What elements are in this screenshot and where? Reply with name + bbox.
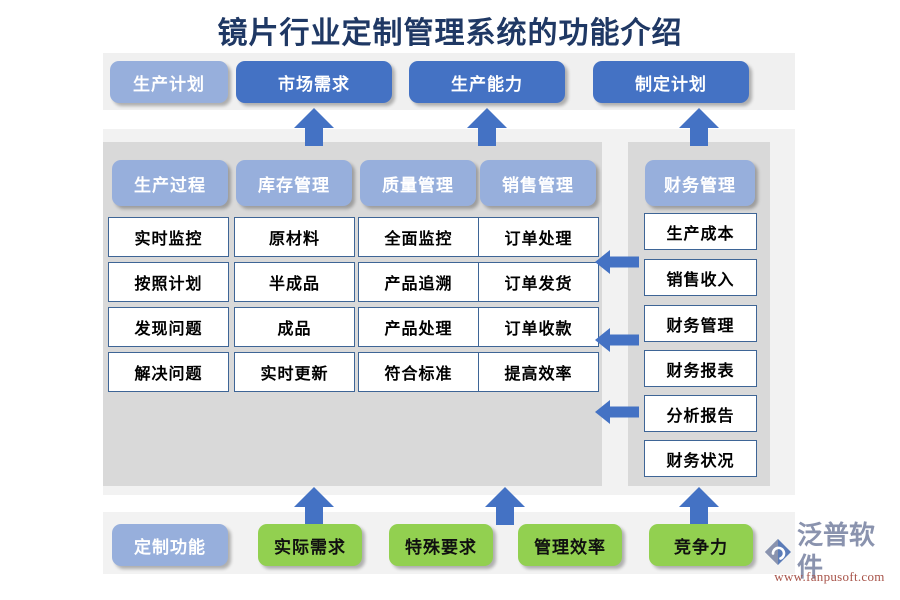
column-header-inventory[interactable]: 库存管理	[236, 160, 352, 206]
cell-production-4[interactable]: 解决问题	[108, 352, 229, 392]
column-header-quality[interactable]: 质量管理	[360, 160, 476, 206]
cell-sales-3[interactable]: 订单收款	[478, 307, 599, 347]
left-arrow-finance-to-sales-3	[594, 399, 640, 425]
cell-inventory-4[interactable]: 实时更新	[234, 352, 355, 392]
left-arrow-finance-to-sales-2	[594, 327, 640, 353]
bottom-chip-management-efficiency[interactable]: 管理效率	[518, 524, 622, 566]
top-chip-market-demand[interactable]: 市场需求	[236, 61, 392, 103]
fanpu-logo-icon	[762, 536, 794, 568]
cell-quality-1[interactable]: 全面监控	[358, 217, 479, 257]
cell-sales-1[interactable]: 订单处理	[478, 217, 599, 257]
cell-sales-2[interactable]: 订单发货	[478, 262, 599, 302]
cell-finance-3[interactable]: 财务管理	[644, 305, 757, 342]
cell-quality-2[interactable]: 产品追溯	[358, 262, 479, 302]
cell-finance-5[interactable]: 分析报告	[644, 395, 757, 432]
up-arrow-make-plan	[678, 106, 720, 146]
cell-quality-3[interactable]: 产品处理	[358, 307, 479, 347]
up-arrow-actual-demand	[293, 485, 335, 525]
cell-inventory-2[interactable]: 半成品	[234, 262, 355, 302]
diagram-canvas: 镜片行业定制管理系统的功能介绍 泛普软件 生产计划 市场需求 生产能力 制定计划…	[0, 0, 900, 600]
top-chip-production-plan[interactable]: 生产计划	[110, 61, 228, 103]
page-title: 镜片行业定制管理系统的功能介绍	[0, 8, 900, 52]
cell-finance-4[interactable]: 财务报表	[644, 350, 757, 387]
top-chip-production-capacity[interactable]: 生产能力	[409, 61, 565, 103]
cell-inventory-3[interactable]: 成品	[234, 307, 355, 347]
top-chip-make-plan[interactable]: 制定计划	[593, 61, 749, 103]
up-arrow-market-demand	[293, 106, 335, 146]
column-header-production-process[interactable]: 生产过程	[112, 160, 228, 206]
cell-production-1[interactable]: 实时监控	[108, 217, 229, 257]
column-header-finance[interactable]: 财务管理	[645, 160, 755, 206]
brand-logo: 泛普软件 www.fanpusoft.com	[762, 534, 897, 590]
bottom-chip-special-requirement[interactable]: 特殊要求	[389, 524, 493, 566]
up-arrow-competitiveness	[678, 485, 720, 525]
cell-finance-1[interactable]: 生产成本	[644, 213, 757, 250]
up-arrow-production-capacity	[466, 106, 508, 146]
logo-website-url: www.fanpusoft.com	[762, 569, 897, 585]
bottom-chip-actual-demand[interactable]: 实际需求	[258, 524, 362, 566]
bottom-chip-custom-function[interactable]: 定制功能	[112, 524, 228, 566]
cell-production-3[interactable]: 发现问题	[108, 307, 229, 347]
up-arrow-management-efficiency	[484, 485, 526, 525]
cell-inventory-1[interactable]: 原材料	[234, 217, 355, 257]
cell-quality-4[interactable]: 符合标准	[358, 352, 479, 392]
left-arrow-finance-to-sales-1	[594, 249, 640, 275]
column-header-sales[interactable]: 销售管理	[480, 160, 596, 206]
cell-finance-6[interactable]: 财务状况	[644, 440, 757, 477]
cell-finance-2[interactable]: 销售收入	[644, 259, 757, 296]
bottom-chip-competitiveness[interactable]: 竞争力	[649, 524, 753, 566]
cell-sales-4[interactable]: 提高效率	[478, 352, 599, 392]
cell-production-2[interactable]: 按照计划	[108, 262, 229, 302]
